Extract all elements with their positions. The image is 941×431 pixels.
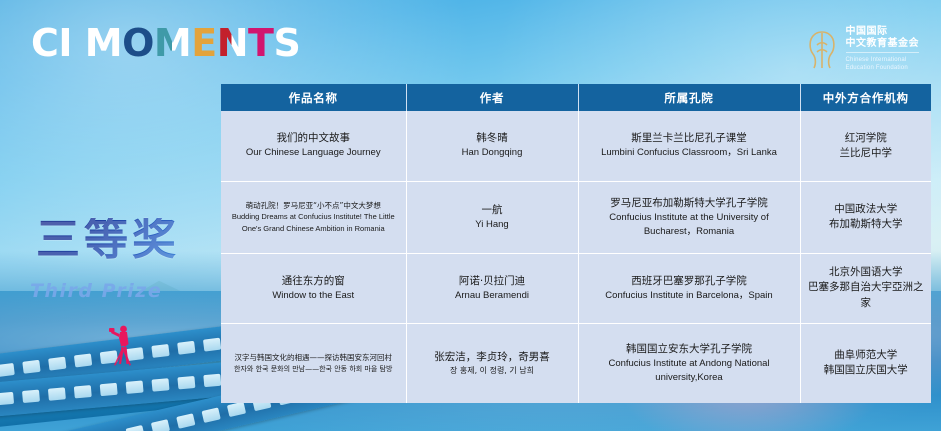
wordmark-letter-c: C [31,24,58,62]
foundation-logo-text: 中国国际 中文教育基金会 Chinese International Educa… [846,26,920,73]
work-title-cn: 我们的中文故事 [227,131,400,146]
work-title-ko: 한자와 한국 문화의 만남——한국 안동 하회 마을 탐방 [227,364,400,375]
wordmark-letter-m2: M [154,24,191,62]
author-cn: 阿诺·贝拉门迪 [413,274,572,289]
cell-author: 张宏洁，李贞玲，奇男喜 장 홍제, 이 정령, 기 남희 [406,323,578,403]
work-title-cn: 萌动孔院！罗马尼亚“小不点”中文大梦想 [227,200,400,211]
institute-en: Confucius Institute at the University of… [585,211,794,239]
institute-cn: 罗马尼亚布加勒斯特大学孔子学院 [585,196,794,211]
prize-title-en: Third Prize [30,280,162,302]
wordmark-letter-o: O [122,24,154,62]
cell-work-title: 萌动孔院！罗马尼亚“小不点”中文大梦想 Budding Dreams at Co… [221,181,406,253]
cell-institute: 韩国国立安东大学孔子学院 Confucius Institute at Ando… [578,323,800,403]
winners-table-container: 作品名称 作者 所属孔院 中外方合作机构 我们的中文故事 Our Chinese… [221,84,931,403]
cell-partner: 北京外国语大学 巴塞多那自治大宇亞洲之家 [800,253,931,323]
cell-work-title: 我们的中文故事 Our Chinese Language Journey [221,111,406,181]
wordmark-letter-e: E [191,24,216,62]
author-cn: 张宏洁，李贞玲，奇男喜 [413,350,572,365]
foundation-name-cn-1: 中国国际 [846,26,920,38]
partner-line-2: 兰比尼中学 [807,146,926,161]
partner-line-2: 巴塞多那自治大宇亞洲之家 [807,280,926,310]
wordmark-letter-m1: M [85,24,122,62]
institute-en: Confucius Institute in Barcelona，Spain [585,289,794,303]
slide-stage: CI MOMENTS 中国国际 中文教育基金会 Chinese Internat… [0,0,941,431]
work-title-cn: 通往东方的窗 [227,274,400,289]
author-ko: 장 홍제, 이 정령, 기 남희 [413,365,572,377]
partner-line-2: 布加勒斯特大学 [807,217,926,232]
prize-title-cn: 三等奖 [36,218,180,262]
cell-author: 韩冬晴 Han Dongqing [406,111,578,181]
table-header-row: 作品名称 作者 所属孔院 中外方合作机构 [221,84,931,111]
column-header-work-title: 作品名称 [221,84,406,111]
table-row: 汉字与韩国文化的相遇——探访韩国安东河回村 한자와 한국 문화의 만남——한국 … [221,323,931,403]
partner-line-1: 中国政法大学 [807,202,926,217]
author-en: Han Dongqing [413,146,572,160]
cell-institute: 西班牙巴塞罗那孔子学院 Confucius Institute in Barce… [578,253,800,323]
wordmark-letter-i: I [58,24,72,62]
cell-partner: 中国政法大学 布加勒斯特大学 [800,181,931,253]
table-row: 通往东方的窗 Window to the East 阿诺·贝拉门迪 Arnau … [221,253,931,323]
wordmark-letter-s: S [273,24,300,62]
work-title-en: Budding Dreams at Confucius Institute! T… [227,211,400,234]
partner-line-1: 曲阜师范大学 [807,348,926,363]
cell-partner: 红河学院 兰比尼中学 [800,111,931,181]
work-title-en: Our Chinese Language Journey [227,146,400,160]
institute-cn: 斯里兰卡兰比尼孔子课堂 [585,131,794,146]
institute-cn: 韩国国立安东大学孔子学院 [585,342,794,357]
cameraman-silhouette-icon [108,324,134,368]
partner-line-1: 红河学院 [807,131,926,146]
table-row: 萌动孔院！罗马尼亚“小不点”中文大梦想 Budding Dreams at Co… [221,181,931,253]
foundation-name-en-1: Chinese International [846,56,920,64]
cell-institute: 斯里兰卡兰比尼孔子课堂 Lumbini Confucius Classroom，… [578,111,800,181]
winners-table: 作品名称 作者 所属孔院 中外方合作机构 我们的中文故事 Our Chinese… [221,84,931,403]
partner-line-1: 北京外国语大学 [807,265,926,280]
institute-cn: 西班牙巴塞罗那孔子学院 [585,274,794,289]
column-header-institute: 所属孔院 [578,84,800,111]
cell-author: 一航 Yi Hang [406,181,578,253]
cell-work-title: 汉字与韩国文化的相遇——探访韩国安东河回村 한자와 한국 문화의 만남——한국 … [221,323,406,403]
work-title-en: Window to the East [227,289,400,303]
foundation-logo: 中国国际 中文教育基金会 Chinese International Educa… [807,26,920,73]
table-row: 我们的中文故事 Our Chinese Language Journey 韩冬晴… [221,111,931,181]
foundation-divider [846,52,920,53]
cell-institute: 罗马尼亚布加勒斯特大学孔子学院 Confucius Institute at t… [578,181,800,253]
work-title-cn: 汉字与韩国文化的相遇——探访韩国安东河回村 [227,352,400,363]
column-header-partner: 中外方合作机构 [800,84,931,111]
wordmark-letter-n: N [217,24,248,62]
institute-en: Lumbini Confucius Classroom，Sri Lanka [585,146,794,160]
institute-en: Confucius Institute at Andong National u… [585,357,794,385]
author-cn: 韩冬晴 [413,131,572,146]
foundation-seal-icon [807,27,837,71]
column-header-author: 作者 [406,84,578,111]
wordmark-letter-t: T [248,24,273,62]
foundation-name-cn-2: 中文教育基金会 [846,38,920,50]
partner-line-2: 韩国国立庆国大学 [807,363,926,378]
author-cn: 一航 [413,203,572,218]
author-en: Arnau Beramendi [413,289,572,303]
author-en: Yi Hang [413,218,572,232]
cell-author: 阿诺·贝拉门迪 Arnau Beramendi [406,253,578,323]
cell-work-title: 通往东方的窗 Window to the East [221,253,406,323]
cell-partner: 曲阜师范大学 韩国国立庆国大学 [800,323,931,403]
foundation-name-en-2: Education Foundation [846,64,920,72]
ci-moments-wordmark: CI MOMENTS [31,24,300,62]
